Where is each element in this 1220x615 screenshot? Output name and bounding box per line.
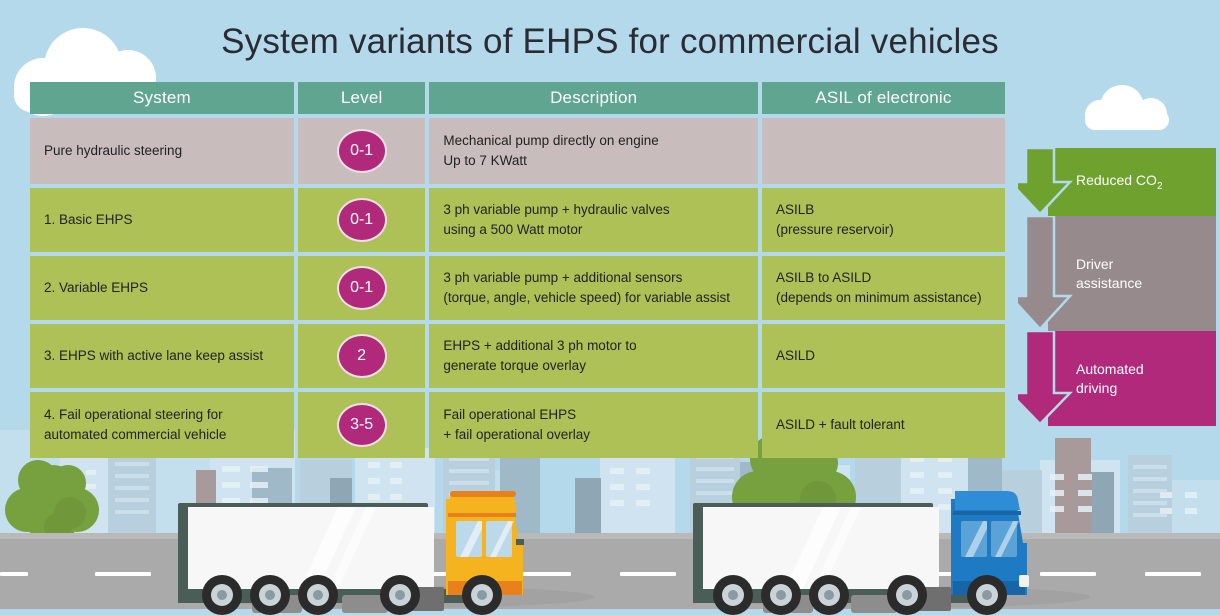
column-header-asil: ASIL of electronic [762,82,1005,114]
level-badge: 2 [337,334,387,378]
level-badge: 0-1 [337,266,387,310]
cell-asil: ASILB to ASILD(depends on minimum assist… [762,256,1005,320]
cell-system: 1. Basic EHPS [30,188,294,252]
column-header-system: System [30,82,294,114]
cell-system: Pure hydraulic steering [30,118,294,184]
cell-system: 4. Fail operational steering forautomate… [30,392,294,458]
cell-asil: ASILD [762,324,1005,388]
cell-level: 2 [298,324,425,388]
table-header-row: System Level Description ASIL of electro… [30,82,1005,114]
blue-truck [675,455,1145,615]
cell-system: 3. EHPS with active lane keep assist [30,324,294,388]
down-arrow-icon-magenta [1018,331,1080,426]
table-row: 3. EHPS with active lane keep assist 2 E… [30,324,1005,388]
table-row: 1. Basic EHPS 0-1 3 ph variable pump + h… [30,188,1005,252]
system-variants-table: System Level Description ASIL of electro… [30,82,1005,462]
cell-asil: ASILB(pressure reservoir) [762,188,1005,252]
table-row: Pure hydraulic steering 0-1 Mechanical p… [30,118,1005,184]
cell-level: 0-1 [298,118,425,184]
cell-level: 0-1 [298,188,425,252]
column-header-description: Description [429,82,758,114]
panel-reduced-co2: Reduced CO2 [1048,148,1216,216]
cell-asil: ASILD + fault tolerant [762,392,1005,458]
down-arrow-icon-grey [1018,216,1080,331]
cell-description: Fail operational EHPS+ fail operational … [429,392,758,458]
panel-driver-assistance: Driverassistance [1048,216,1216,331]
table-row: 4. Fail operational steering forautomate… [30,392,1005,458]
level-badge: 0-1 [337,198,387,242]
cell-description: 3 ph variable pump + hydraulic valvesusi… [429,188,758,252]
level-badge: 3-5 [337,403,387,447]
benefit-panels: Reduced CO2 Driverassistance Automateddr… [1018,148,1220,426]
page-title: System variants of EHPS for commercial v… [0,22,1220,62]
cell-description: 3 ph variable pump + additional sensors(… [429,256,758,320]
column-header-level: Level [298,82,425,114]
table-row: 2. Variable EHPS 0-1 3 ph variable pump … [30,256,1005,320]
level-badge: 0-1 [337,129,387,173]
page-title-text: System variants of EHPS for commercial v… [221,22,999,61]
cell-system: 2. Variable EHPS [30,256,294,320]
yellow-truck [160,455,630,615]
panel-automated-driving: Automateddriving [1048,331,1216,426]
cell-description: EHPS + additional 3 ph motor togenerate … [429,324,758,388]
down-arrow-icon-green [1018,148,1080,216]
cell-description: Mechanical pump directly on engineUp to … [429,118,758,184]
cell-asil [762,118,1005,184]
infographic-canvas: System variants of EHPS for commercial v… [0,0,1220,609]
cell-level: 3-5 [298,392,425,458]
cell-level: 0-1 [298,256,425,320]
